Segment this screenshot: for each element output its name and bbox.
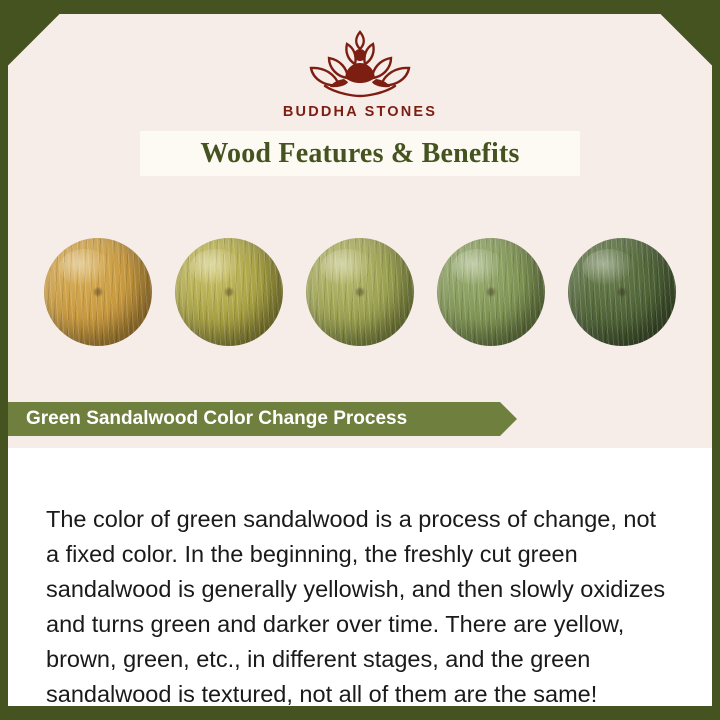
bead-hole (618, 288, 626, 296)
bead-highlight (583, 249, 635, 286)
bead-stage-1 (44, 238, 152, 346)
title-banner: Wood Features & Benefits (140, 131, 580, 176)
bead-hole (487, 288, 495, 296)
body-paragraph: The color of green sandalwood is a proce… (46, 502, 674, 712)
bead-highlight (452, 249, 504, 286)
bead-hole (94, 288, 102, 296)
bead-highlight (59, 249, 111, 286)
bead-hole (356, 288, 364, 296)
section-subtitle-banner: Green Sandalwood Color Change Process (8, 402, 500, 436)
bead-gallery (8, 186, 712, 398)
page-title: Wood Features & Benefits (200, 138, 519, 170)
bead-stage-5 (568, 238, 676, 346)
brand-logo: BUDDHA STONES (0, 22, 720, 120)
body-panel: The color of green sandalwood is a proce… (8, 448, 712, 706)
lotus-buddha-icon (285, 22, 435, 100)
bead-highlight (321, 249, 373, 286)
infographic-page: BUDDHA STONES Wood Features & Benefits (0, 0, 720, 720)
bead-hole (225, 288, 233, 296)
frame-edge-top (0, 0, 720, 14)
bead-stage-4 (437, 238, 545, 346)
brand-name: BUDDHA STONES (0, 104, 720, 120)
bead-highlight (190, 249, 242, 286)
section-subtitle: Green Sandalwood Color Change Process (26, 408, 407, 430)
bead-stage-2 (175, 238, 283, 346)
bead-stage-3 (306, 238, 414, 346)
